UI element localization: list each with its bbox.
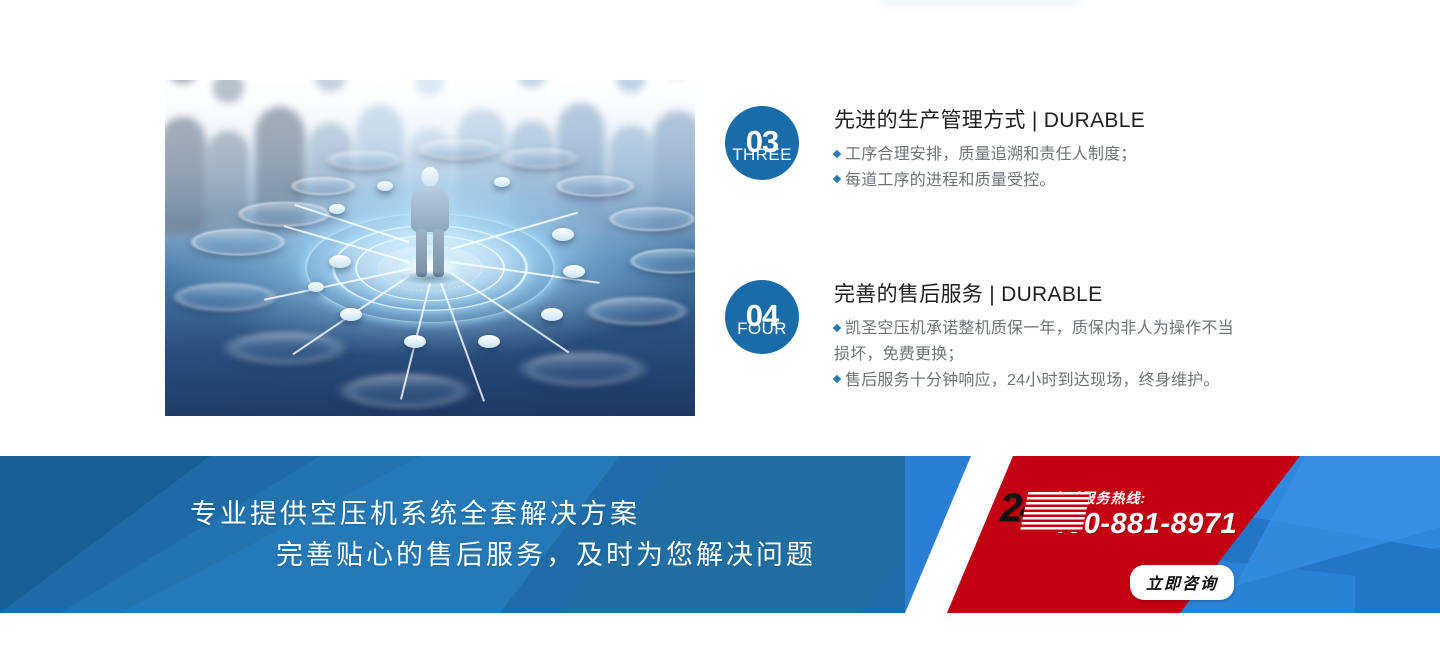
badge-word: FOUR bbox=[737, 320, 787, 337]
hotline-group: 24 小时服务热线: 400-881-8971 bbox=[1000, 490, 1340, 542]
diamond-bullet-icon bbox=[833, 375, 841, 383]
hotline-label: 小时服务热线: bbox=[1051, 491, 1238, 506]
hours-24-graphic: 24 bbox=[1000, 490, 1041, 527]
diamond-bullet-icon bbox=[833, 175, 841, 183]
feature-list-03: 工序合理安排，质量追溯和责任人制度； 每道工序的进程和质量受控。 bbox=[834, 142, 1145, 194]
list-item: 工序合理安排，质量追溯和责任人制度； bbox=[834, 142, 1145, 168]
badge-word: THREE bbox=[732, 146, 792, 163]
feature-badge-03: 03 THREE bbox=[725, 106, 799, 180]
hotline-number: 400-881-8971 bbox=[1051, 508, 1238, 541]
person-figure bbox=[407, 167, 453, 279]
list-item-text: 每道工序的进程和质量受控。 bbox=[845, 172, 1056, 189]
list-item: 每道工序的进程和质量受控。 bbox=[834, 168, 1145, 194]
list-item: 凯圣空压机承诺整机质保一年，质保内非人为操作不当损坏，免费更换； bbox=[834, 316, 1239, 368]
diamond-bullet-icon bbox=[833, 149, 841, 157]
feature-block-04: 04 FOUR 完善的售后服务 | DURABLE 凯圣空压机承诺整机质保一年，… bbox=[725, 280, 1239, 394]
feature-body-04: 完善的售后服务 | DURABLE 凯圣空压机承诺整机质保一年，质保内非人为操作… bbox=[834, 280, 1239, 394]
promo-page: 03 THREE 先进的生产管理方式 | DURABLE 工序合理安排，质量追溯… bbox=[0, 0, 1440, 663]
feature-list-04: 凯圣空压机承诺整机质保一年，质保内非人为操作不当损坏，免费更换； 售后服务十分钟… bbox=[834, 316, 1239, 394]
consult-now-button[interactable]: 立即咨询 bbox=[1130, 565, 1234, 600]
slogan-line-1: 专业提供空压机系统全套解决方案 bbox=[190, 494, 960, 535]
features-section: 03 THREE 先进的生产管理方式 | DURABLE 工序合理安排，质量追溯… bbox=[0, 0, 1440, 456]
feature-title: 先进的生产管理方式 | DURABLE bbox=[834, 108, 1145, 134]
feature-block-03: 03 THREE 先进的生产管理方式 | DURABLE 工序合理安排，质量追溯… bbox=[725, 106, 1145, 194]
list-item-text: 凯圣空压机承诺整机质保一年，质保内非人为操作不当损坏，免费更换； bbox=[834, 320, 1234, 363]
list-item-text: 工序合理安排，质量追溯和责任人制度； bbox=[845, 146, 1137, 163]
feature-badge-04: 04 FOUR bbox=[725, 280, 799, 354]
business-network-image bbox=[165, 80, 695, 416]
list-item-text: 售后服务十分钟响应，24小时到达现场，终身维护。 bbox=[845, 372, 1220, 389]
cta-banner: 专业提供空压机系统全套解决方案 完善贴心的售后服务，及时为您解决问题 24 bbox=[0, 456, 1440, 613]
slogan-line-2: 完善贴心的售后服务，及时为您解决问题 bbox=[190, 535, 960, 576]
feature-body-03: 先进的生产管理方式 | DURABLE 工序合理安排，质量追溯和责任人制度； 每… bbox=[834, 106, 1145, 194]
hours-number: 24 bbox=[1000, 486, 1041, 530]
banner-slogan: 专业提供空压机系统全套解决方案 完善贴心的售后服务，及时为您解决问题 bbox=[0, 456, 960, 613]
list-item: 售后服务十分钟响应，24小时到达现场，终身维护。 bbox=[834, 368, 1239, 394]
diamond-bullet-icon bbox=[833, 323, 841, 331]
feature-title: 完善的售后服务 | DURABLE bbox=[834, 282, 1239, 308]
hotline-panel: 24 小时服务热线: 400-881-8971 立即咨询 bbox=[905, 456, 1440, 613]
